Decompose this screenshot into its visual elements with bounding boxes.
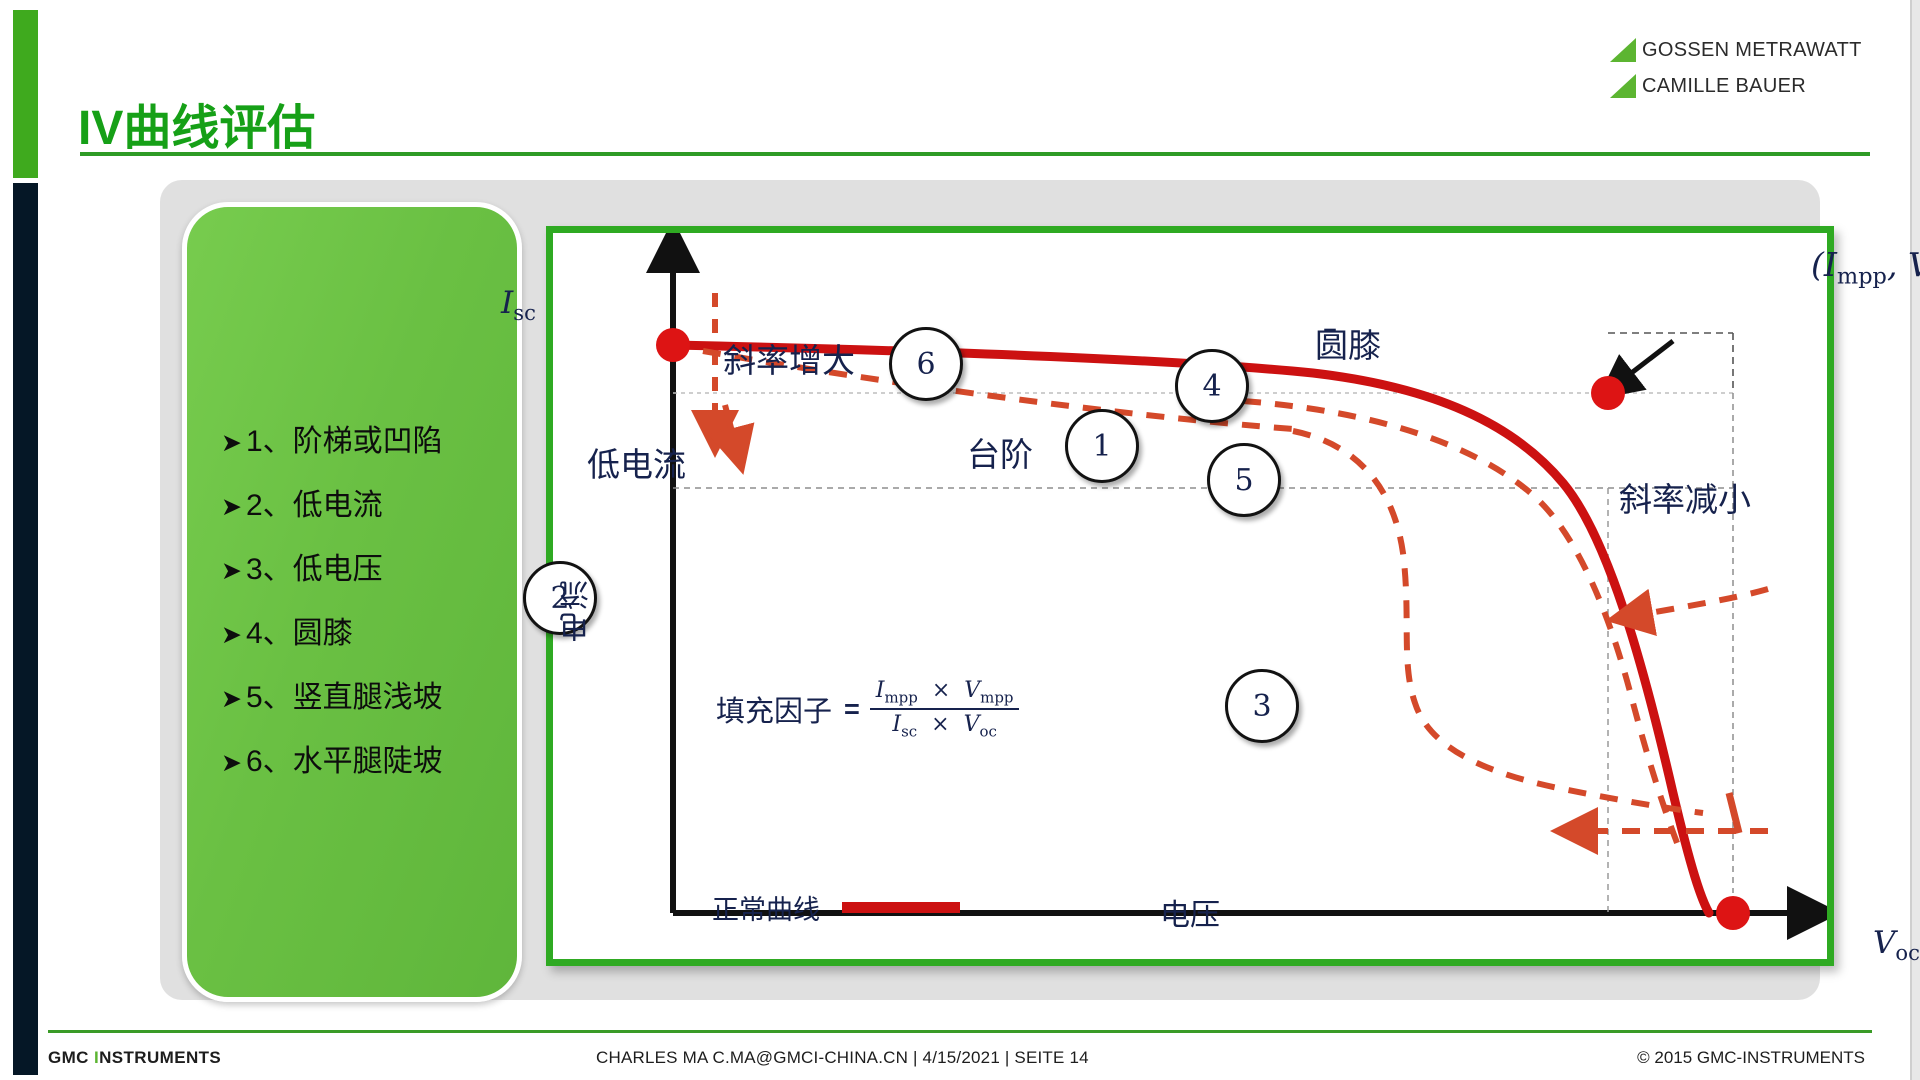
arrow-bullet-icon: ➤ — [221, 431, 242, 456]
brand-label-gossen: GOSSEN METRAWATT — [1642, 39, 1862, 62]
formula-numerator: Impp × Vmpp — [870, 678, 1020, 708]
arrow-bullet-icon: ➤ — [221, 751, 242, 776]
list-item[interactable]: ➤ 2、低电流 — [221, 491, 491, 521]
isc-point — [656, 328, 690, 362]
list-item-label: 1、阶梯或凹陷 — [246, 427, 443, 457]
logo-gossen-metrawatt: GOSSEN METRAWATT — [1610, 32, 1860, 68]
fault-marker-4[interactable]: 4 — [1175, 349, 1249, 423]
arrow-bullet-icon: ➤ — [221, 623, 242, 648]
formula-equals: = — [844, 694, 860, 725]
list-item[interactable]: ➤ 4、圆膝 — [221, 619, 491, 649]
fault-curve-3-tail — [1729, 793, 1739, 833]
green-triangle-icon — [1610, 74, 1636, 98]
green-triangle-icon — [1610, 38, 1636, 62]
chart-legend: 正常曲线 — [712, 888, 960, 927]
fault-curve-4-round-knee — [1243, 401, 1681, 853]
fault-list-card: ➤ 1、阶梯或凹陷 ➤ 2、低电流 ➤ 3、低电压 ➤ 4、圆膝 ➤ 5、竖直腿… — [182, 202, 522, 1002]
footer-meta: CHARLES MA C.MA@GMCI-CHINA.CN | 4/15/202… — [596, 1048, 1089, 1068]
annotation-low-current: 低电流 — [587, 438, 686, 486]
formula-denominator: Isc × Voc — [886, 710, 1002, 740]
list-item-label: 3、低电压 — [246, 555, 383, 585]
annotation-round-knee: 圆膝 — [1315, 319, 1381, 367]
list-item-label: 4、圆膝 — [246, 619, 353, 649]
isc-label: Isc — [501, 285, 536, 325]
fault-curve-5-slope-decrease — [1638, 589, 1768, 615]
voc-point — [1716, 896, 1750, 930]
page-title: IV曲线评估 — [78, 88, 315, 158]
annotation-slope-increase: 斜率增大 — [723, 334, 855, 382]
list-item-label: 5、竖直腿浅坡 — [246, 683, 443, 713]
logo-camille-bauer: CAMILLE BAUER — [1610, 68, 1860, 104]
annotation-slope-decrease: 斜率减小 — [1619, 473, 1751, 521]
formula-label: 填充因子 — [716, 688, 832, 730]
left-accent-bar-dark — [13, 183, 38, 1075]
list-item[interactable]: ➤ 6、水平腿陡坡 — [221, 747, 491, 777]
brand-logos: GOSSEN METRAWATT CAMILLE BAUER — [1610, 32, 1860, 104]
formula-fraction: Impp × Vmpp Isc × Voc — [870, 678, 1020, 741]
list-item[interactable]: ➤ 3、低电压 — [221, 555, 491, 585]
fault-marker-3[interactable]: 3 — [1225, 669, 1299, 743]
fault-marker-5[interactable]: 5 — [1207, 443, 1281, 517]
legend-swatch-normal-curve — [842, 902, 960, 913]
fill-factor-formula: 填充因子 = Impp × Vmpp Isc × Voc — [716, 678, 1019, 741]
left-accent-bar-green — [13, 10, 38, 178]
annotation-step: 台阶 — [967, 428, 1033, 476]
x-axis-title: 电压 — [1160, 890, 1220, 934]
list-item[interactable]: ➤ 5、竖直腿浅坡 — [221, 683, 491, 713]
mpp-point — [1591, 376, 1625, 410]
right-edge-strip — [1912, 0, 1920, 1080]
list-item[interactable]: ➤ 1、阶梯或凹陷 — [221, 427, 491, 457]
normal-curve — [673, 345, 1709, 913]
right-edge-divider — [1910, 0, 1912, 1080]
y-axis-title: 电流 — [556, 578, 600, 642]
legend-label-normal-curve: 正常曲线 — [712, 888, 820, 927]
voc-label: Voc — [1873, 925, 1920, 965]
footer-divider — [48, 1030, 1872, 1033]
iv-curve-chart: Isc Voc (Impp, Vmpp) 低电流 斜率增大 台阶 – 圆膝 斜率… — [546, 226, 1834, 966]
list-item-label: 6、水平腿陡坡 — [246, 747, 443, 777]
fault-marker-1[interactable]: 1 — [1065, 409, 1139, 483]
fault-arrow-6 — [725, 405, 735, 443]
mpp-label: (Impp, Vmpp) — [1811, 245, 1920, 290]
mpp-annotation-arrow — [1621, 341, 1673, 381]
arrow-bullet-icon: ➤ — [221, 687, 242, 712]
arrow-bullet-icon: ➤ — [221, 495, 242, 520]
footer-logo-gmc-instruments: GMC INSTRUMENTS — [48, 1048, 221, 1068]
brand-label-camille: CAMILLE BAUER — [1642, 75, 1806, 98]
footer-copyright: © 2015 GMC-INSTRUMENTS — [1637, 1048, 1865, 1068]
list-item-label: 2、低电流 — [246, 491, 383, 521]
fault-marker-6[interactable]: 6 — [889, 327, 963, 401]
arrow-bullet-icon: ➤ — [221, 559, 242, 584]
title-underline — [80, 152, 1870, 156]
